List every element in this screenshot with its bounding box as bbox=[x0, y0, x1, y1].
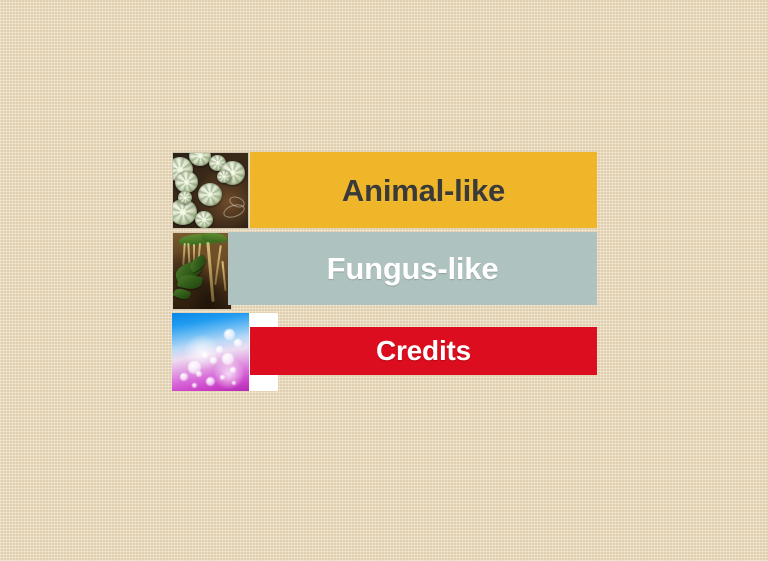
menu-row-credits: Credits bbox=[0, 0, 768, 561]
bokeh-gradient-thumbnail[interactable] bbox=[172, 313, 249, 391]
menu-screen: Animal-like Fungus-like bbox=[0, 0, 768, 561]
menu-button-credits[interactable]: Credits bbox=[250, 327, 597, 375]
menu-button-label-credits: Credits bbox=[376, 337, 471, 365]
